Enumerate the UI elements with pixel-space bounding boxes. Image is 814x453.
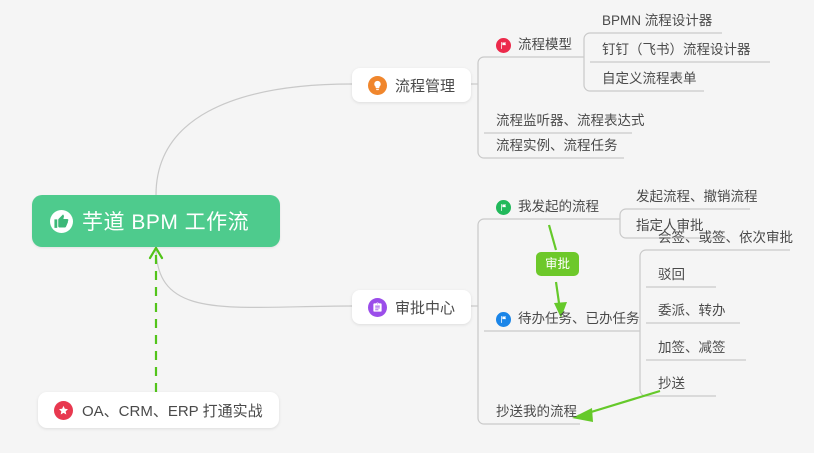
leaf-listener-expression[interactable]: 流程监听器、流程表达式	[490, 112, 651, 134]
annotation-tag-approve-label: 审批	[545, 257, 570, 271]
leaf-label-delegate-transfer: 委派、转办	[658, 303, 726, 318]
leaf-label-cc: 抄送	[658, 376, 685, 391]
leaf-custom-form[interactable]: 自定义流程表单	[596, 70, 703, 92]
leaf-todo-done-task[interactable]: 待办任务、已办任务	[490, 310, 646, 332]
flag-red-icon	[496, 38, 511, 53]
lightbulb-icon	[368, 76, 387, 95]
leaf-delegate-transfer[interactable]: 委派、转办	[652, 302, 732, 324]
branch-label-approve-center: 审批中心	[395, 297, 455, 318]
flag-green-icon	[496, 200, 511, 215]
link-root-to-approve-center	[156, 247, 352, 307]
leaf-my-started-flow[interactable]: 我发起的流程	[490, 198, 605, 220]
leaf-label-add-remove-sign: 加签、减签	[658, 340, 726, 355]
corner-note-node[interactable]: OA、CRM、ERP 打通实战	[38, 392, 279, 428]
leaf-label-reject: 驳回	[658, 267, 685, 282]
arrowhead-corner-note	[150, 248, 162, 258]
branch-node-flow-manage[interactable]: 流程管理	[352, 68, 471, 102]
thumbs-up-icon	[50, 210, 73, 233]
star-icon	[54, 401, 73, 420]
leaf-reject[interactable]: 驳回	[652, 266, 691, 288]
leaf-label-start-cancel-flow: 发起流程、撤销流程	[636, 189, 758, 204]
leaf-start-cancel-flow[interactable]: 发起流程、撤销流程	[630, 188, 764, 210]
leaf-label-todo-done-task: 待办任务、已办任务	[518, 310, 640, 328]
leaf-countersign[interactable]: 会签、或签、依次审批	[652, 229, 799, 251]
flag-blue-icon	[496, 312, 511, 327]
link-my-started-bracket	[620, 209, 626, 238]
leaf-cc-to-me-flow[interactable]: 抄送我的流程	[490, 403, 583, 425]
leaf-label-bpmn-designer: BPMN 流程设计器	[602, 13, 712, 28]
arrow-started-to-todo-upper	[549, 225, 556, 250]
corner-note-label: OA、CRM、ERP 打通实战	[82, 400, 263, 421]
leaf-add-remove-sign[interactable]: 加签、减签	[652, 339, 732, 361]
leaf-label-dingtalk-designer: 钉钉（飞书）流程设计器	[602, 42, 751, 57]
link-flow-model-bracket	[584, 33, 590, 91]
leaf-instance-task[interactable]: 流程实例、流程任务	[490, 137, 624, 159]
clipboard-icon	[368, 298, 387, 317]
branch-label-flow-manage: 流程管理	[395, 75, 455, 96]
mindmap-canvas: 芋道 BPM 工作流 流程管理 流程模型 流程监听器、流程表达式 流程实例、流程…	[0, 0, 814, 453]
root-label: 芋道 BPM 工作流	[82, 206, 249, 236]
leaf-flow-model[interactable]: 流程模型	[490, 36, 578, 58]
leaf-cc[interactable]: 抄送	[652, 375, 691, 397]
leaf-dingtalk-designer[interactable]: 钉钉（飞书）流程设计器	[596, 41, 757, 63]
leaf-label-countersign: 会签、或签、依次审批	[658, 230, 793, 245]
leaf-label-my-started-flow: 我发起的流程	[518, 198, 599, 216]
leaf-label-flow-model: 流程模型	[518, 36, 572, 54]
annotation-tag-approve[interactable]: 审批	[536, 252, 579, 276]
arrow-started-to-todo-lower	[556, 282, 560, 310]
leaf-label-custom-form: 自定义流程表单	[602, 71, 697, 86]
arrow-cc-to-ccmine	[578, 391, 660, 416]
link-approve-center-bracket	[478, 219, 484, 424]
leaf-bpmn-designer[interactable]: BPMN 流程设计器	[596, 12, 718, 34]
branch-node-approve-center[interactable]: 审批中心	[352, 290, 471, 324]
root-node[interactable]: 芋道 BPM 工作流	[32, 195, 280, 247]
leaf-label-listener-expression: 流程监听器、流程表达式	[496, 113, 645, 128]
link-root-to-flow-manage	[156, 84, 352, 195]
leaf-label-cc-to-me-flow: 抄送我的流程	[496, 404, 577, 419]
leaf-label-instance-task: 流程实例、流程任务	[496, 138, 618, 153]
link-flow-manage-bracket	[478, 57, 484, 158]
